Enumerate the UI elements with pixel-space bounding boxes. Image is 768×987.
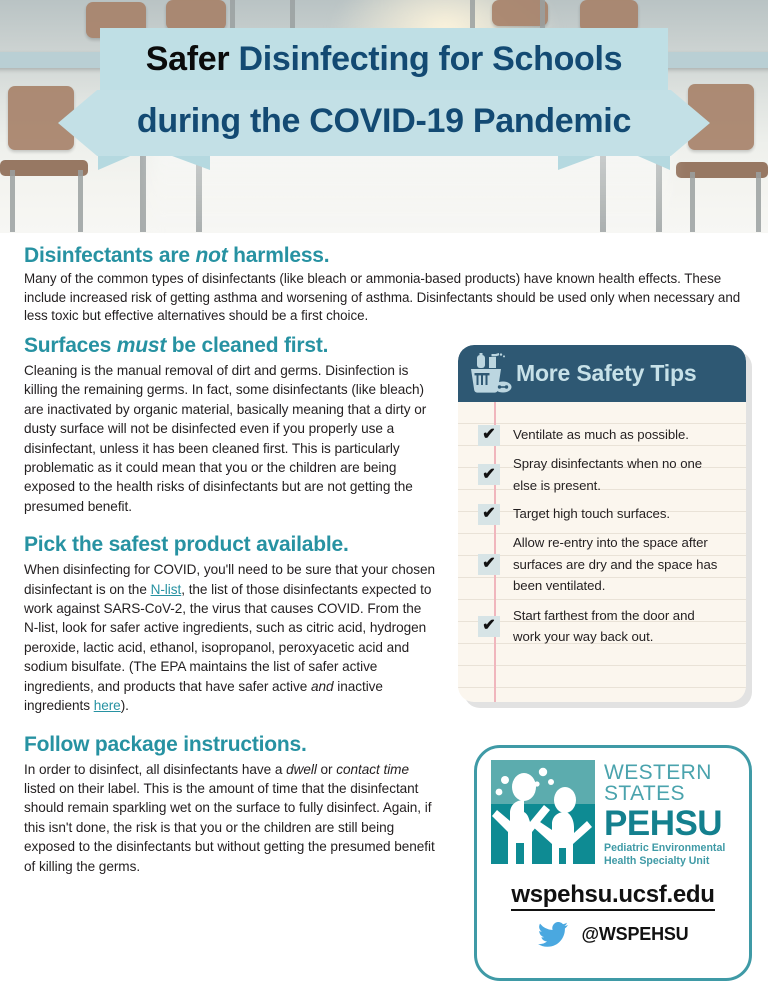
section-surfaces-heading: Surfaces must be cleaned first.	[24, 333, 436, 358]
check-icon: ✔	[478, 464, 500, 485]
title-ribbon: Safer Disinfecting for Schools during th…	[0, 28, 768, 168]
hero-title-safer: Safer	[146, 40, 230, 78]
list-item-label: Allow re-entry into the space after surf…	[513, 532, 725, 597]
pick-part2: , the list of those disinfectants expect…	[24, 582, 431, 694]
logo-tagline-line-1: Pediatric Environmental	[604, 842, 725, 854]
chair-leg-1	[10, 170, 15, 232]
wspehsu-logo-card: WESTERN STATES PEHSU Pediatric Environme…	[474, 745, 752, 981]
intro-heading: Disinfectants are not harmless.	[24, 243, 744, 268]
logo-acronym: PEHSU	[604, 806, 725, 841]
chair-leg-2	[78, 170, 83, 232]
wspehsu-logo-mark	[491, 760, 595, 864]
list-item-label: Target high touch surfaces.	[513, 503, 670, 525]
list-item-label: Ventilate as much as possible.	[513, 424, 689, 446]
logo-line-states: STATES	[604, 783, 725, 805]
safety-tips-title: More Safety Tips	[516, 360, 696, 387]
hero-title: Safer Disinfecting for Schools during th…	[0, 28, 768, 168]
section-pick-product-paragraph: When disinfecting for COVID, you'll need…	[24, 560, 436, 715]
follow-part3: listed on their label. This is the amoun…	[24, 781, 435, 874]
twitter-handle: @WSPEHSU	[582, 924, 689, 945]
pick-italic1: and	[311, 679, 334, 694]
section-follow-instructions-heading: Follow package instructions.	[24, 732, 436, 757]
safety-tips-card: More Safety Tips ✔ Ventilate as much as …	[458, 345, 746, 702]
surfaces-heading-italic: must	[117, 334, 166, 357]
website-url-link[interactable]: wspehsu.ucsf.edu	[511, 881, 714, 911]
section-surfaces-paragraph: Cleaning is the manual removal of dirt a…	[24, 361, 436, 516]
surfaces-heading-b: be cleaned first.	[166, 334, 328, 357]
infographic-page: Safer Disinfecting for Schools during th…	[0, 0, 768, 987]
logo-tagline-line-2: Health Specialty Unit	[604, 855, 725, 867]
follow-part2: or	[317, 762, 336, 777]
list-item: ✔ Allow re-entry into the space after su…	[458, 532, 746, 597]
logo-row: WESTERN STATES PEHSU Pediatric Environme…	[491, 760, 725, 868]
list-item-label: Start farthest from the door and work yo…	[513, 605, 721, 648]
check-icon: ✔	[478, 425, 500, 446]
chair-back-3	[166, 0, 226, 30]
pick-part4: ).	[121, 698, 129, 713]
section-pick-product-heading: Pick the safest product available.	[24, 532, 436, 557]
intro-heading-b: harmless.	[228, 244, 330, 267]
check-icon: ✔	[478, 554, 500, 575]
cleaning-bucket-icon	[464, 353, 516, 395]
here-link[interactable]: here	[94, 698, 121, 713]
list-item: ✔ Target high touch surfaces.	[458, 503, 746, 525]
safety-tips-header: More Safety Tips	[458, 345, 746, 402]
hero-title-line-1: Safer Disinfecting for Schools	[0, 34, 768, 84]
follow-italic2: contact time	[336, 762, 409, 777]
intro-heading-italic: not	[195, 244, 227, 267]
hero-title-rest: Disinfecting for Schools	[238, 40, 622, 78]
list-item-label: Spray disinfectants when no one else is …	[513, 453, 703, 496]
intro-paragraph: Many of the common types of disinfectant…	[24, 270, 744, 326]
follow-part1: In order to disinfect, all disinfectants…	[24, 762, 286, 777]
chair-leg-5	[690, 172, 695, 232]
section-follow-instructions: Follow package instructions. In order to…	[24, 732, 436, 876]
list-item: ✔ Spray disinfectants when no one else i…	[458, 453, 746, 496]
intro-heading-a: Disinfectants are	[24, 244, 195, 267]
safety-tips-list: ✔ Ventilate as much as possible. ✔ Spray…	[458, 424, 746, 655]
twitter-bird-icon	[538, 922, 568, 947]
website-url-row: wspehsu.ucsf.edu	[477, 881, 749, 909]
section-follow-instructions-paragraph: In order to disinfect, all disinfectants…	[24, 760, 436, 876]
follow-italic1: dwell	[286, 762, 317, 777]
n-list-link[interactable]: N-list	[151, 582, 182, 597]
surfaces-heading-a: Surfaces	[24, 334, 117, 357]
hero-banner: Safer Disinfecting for Schools during th…	[0, 0, 768, 233]
section-surfaces: Surfaces must be cleaned first. Cleaning…	[24, 333, 436, 516]
list-item: ✔ Start farthest from the door and work …	[458, 605, 746, 648]
hero-title-line-2: during the COVID-19 Pandemic	[0, 90, 768, 152]
section-pick-product: Pick the safest product available. When …	[24, 532, 436, 715]
logo-wordmark: WESTERN STATES PEHSU Pediatric Environme…	[604, 760, 725, 868]
intro-section: Disinfectants are not harmless. Many of …	[24, 243, 744, 326]
twitter-row[interactable]: @WSPEHSU	[477, 922, 749, 947]
check-icon: ✔	[478, 504, 500, 525]
safety-tips-body: ✔ Ventilate as much as possible. ✔ Spray…	[458, 402, 746, 702]
chair-leg-6	[756, 172, 761, 232]
check-icon: ✔	[478, 616, 500, 637]
left-column: Surfaces must be cleaned first. Cleaning…	[24, 333, 436, 892]
list-item: ✔ Ventilate as much as possible.	[458, 424, 746, 446]
logo-line-western: WESTERN	[604, 762, 725, 783]
